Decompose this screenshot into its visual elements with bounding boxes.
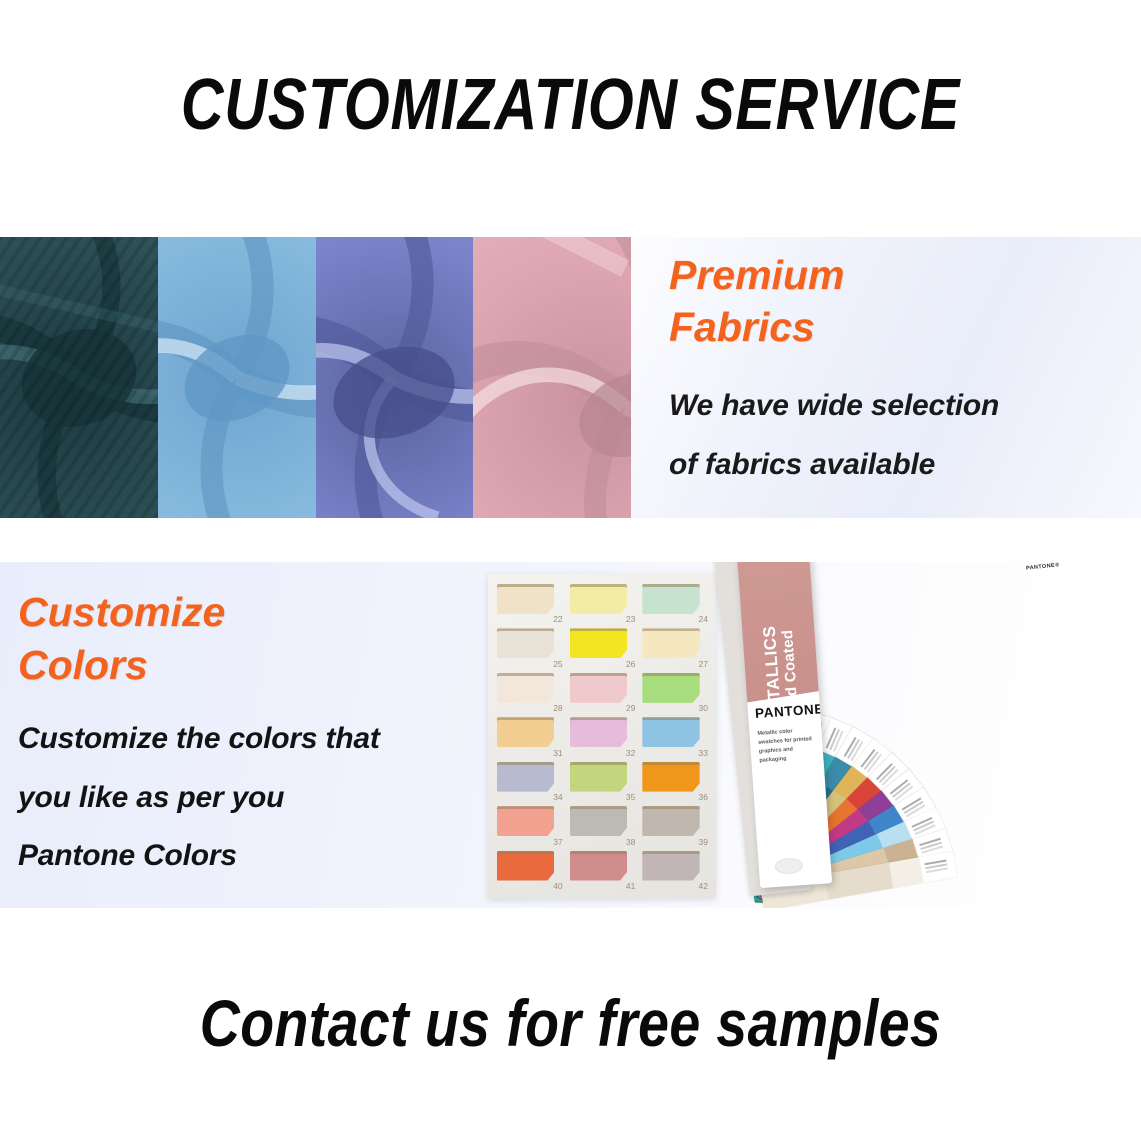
footer-cta: Contact us for free samples (91, 985, 1049, 1061)
color-swatch: 26 (570, 628, 637, 667)
color-swatch-number: 22 (553, 614, 562, 624)
color-swatch: 32 (570, 717, 637, 756)
color-swatch-number: 36 (699, 792, 708, 802)
color-swatch-number: 35 (626, 792, 635, 802)
color-swatch: 42 (642, 851, 709, 890)
color-swatch: 34 (497, 762, 564, 801)
color-swatch-card: 2223242526272829303132333435363738394041… (488, 574, 716, 898)
premium-fabrics-heading-line1: Premium (669, 249, 844, 301)
color-swatch-chip (570, 717, 627, 747)
color-swatch-chip (642, 584, 699, 614)
color-swatch: 39 (642, 806, 709, 845)
fabric-image-teal (0, 237, 158, 518)
color-swatch-chip (497, 584, 554, 614)
color-swatch: 31 (497, 717, 564, 756)
color-swatch-number: 31 (553, 748, 562, 758)
fabric-image-dusty-pink (473, 237, 631, 518)
pantone-cover-description: Metallic color swatches for printed grap… (757, 726, 817, 766)
color-swatch-number: 38 (626, 837, 635, 847)
customize-colors-heading: Customize Colors (18, 586, 225, 693)
color-swatch-number: 37 (553, 837, 562, 847)
page-title: CUSTOMIZATION SERVICE (103, 64, 1039, 146)
customize-colors-description-line2: you like as per you (18, 769, 380, 828)
color-swatch-chip (497, 717, 554, 747)
color-swatch: 29 (570, 673, 637, 712)
fabric-image-light-blue (158, 237, 316, 518)
pantone-blade-label-area (918, 851, 957, 883)
color-swatch: 40 (497, 851, 564, 890)
color-swatch-chip (642, 673, 699, 703)
color-swatch-chip (570, 628, 627, 658)
color-swatch-chip (497, 762, 554, 792)
color-swatch: 30 (642, 673, 709, 712)
color-swatch: 25 (497, 628, 564, 667)
color-swatch-chip (642, 717, 699, 747)
color-swatch: 28 (497, 673, 564, 712)
color-swatch-number: 34 (553, 792, 562, 802)
premium-fabrics-text-panel: Premium Fabrics We have wide selection o… (631, 237, 1141, 518)
color-swatch: 35 (570, 762, 637, 801)
fabric-image-periwinkle (316, 237, 474, 518)
premium-fabrics-heading: Premium Fabrics (669, 249, 844, 354)
fabric-swatch-strip (0, 237, 631, 518)
color-swatch: 38 (570, 806, 637, 845)
pantone-thumb-notch (774, 857, 803, 875)
color-swatch-chip (497, 673, 554, 703)
pantone-fan-deck: PANTONE®PANTONE® METALLICS METALLICS Sol… (726, 562, 1141, 908)
color-swatch-chip (497, 806, 554, 836)
color-swatch-chip (642, 762, 699, 792)
color-swatch-chip (642, 851, 699, 881)
color-swatch-chip (497, 628, 554, 658)
color-swatch-chip (642, 628, 699, 658)
premium-fabrics-description-line1: We have wide selection (669, 377, 999, 436)
color-swatch-number: 33 (699, 748, 708, 758)
color-swatch-number: 23 (626, 614, 635, 624)
color-swatch-chip (642, 806, 699, 836)
customize-colors-heading-line2: Colors (18, 639, 225, 692)
color-swatch-number: 42 (699, 881, 708, 891)
color-swatch: 23 (570, 584, 637, 623)
color-swatch-number: 32 (626, 748, 635, 758)
color-swatch-number: 28 (553, 703, 562, 713)
color-swatch-number: 30 (699, 703, 708, 713)
color-swatch: 33 (642, 717, 709, 756)
color-swatch-chip (497, 851, 554, 881)
color-swatch: 27 (642, 628, 709, 667)
color-swatch-chip (570, 673, 627, 703)
premium-fabrics-heading-line2: Fabrics (669, 301, 844, 353)
premium-fabrics-section: Premium Fabrics We have wide selection o… (0, 237, 1141, 518)
color-swatch-number: 24 (699, 614, 708, 624)
color-swatch: 41 (570, 851, 637, 890)
color-swatch: 22 (497, 584, 564, 623)
customize-colors-section: Customize Colors Customize the colors th… (0, 562, 1141, 908)
customize-colors-description-line1: Customize the colors that (18, 710, 380, 769)
color-swatch-number: 39 (699, 837, 708, 847)
pantone-blade-header: PANTONE® (1026, 562, 1060, 571)
color-swatch-chip (570, 762, 627, 792)
customize-colors-description: Customize the colors that you like as pe… (18, 710, 380, 886)
color-swatch: 36 (642, 762, 709, 801)
color-swatch-chip (570, 851, 627, 881)
color-swatch-number: 25 (553, 659, 562, 669)
color-swatch-number: 40 (553, 881, 562, 891)
color-swatch: 37 (497, 806, 564, 845)
color-swatch-chip (570, 806, 627, 836)
color-swatch: 24 (642, 584, 709, 623)
color-swatch-number: 27 (699, 659, 708, 669)
customize-colors-heading-line1: Customize (18, 586, 225, 639)
premium-fabrics-description: We have wide selection of fabrics availa… (669, 377, 999, 494)
color-swatch-number: 26 (626, 659, 635, 669)
premium-fabrics-description-line2: of fabrics available (669, 436, 999, 495)
color-swatch-number: 41 (626, 881, 635, 891)
color-swatch-chip (570, 584, 627, 614)
customize-colors-description-line3: Pantone Colors (18, 827, 380, 886)
color-swatch-number: 29 (626, 703, 635, 713)
